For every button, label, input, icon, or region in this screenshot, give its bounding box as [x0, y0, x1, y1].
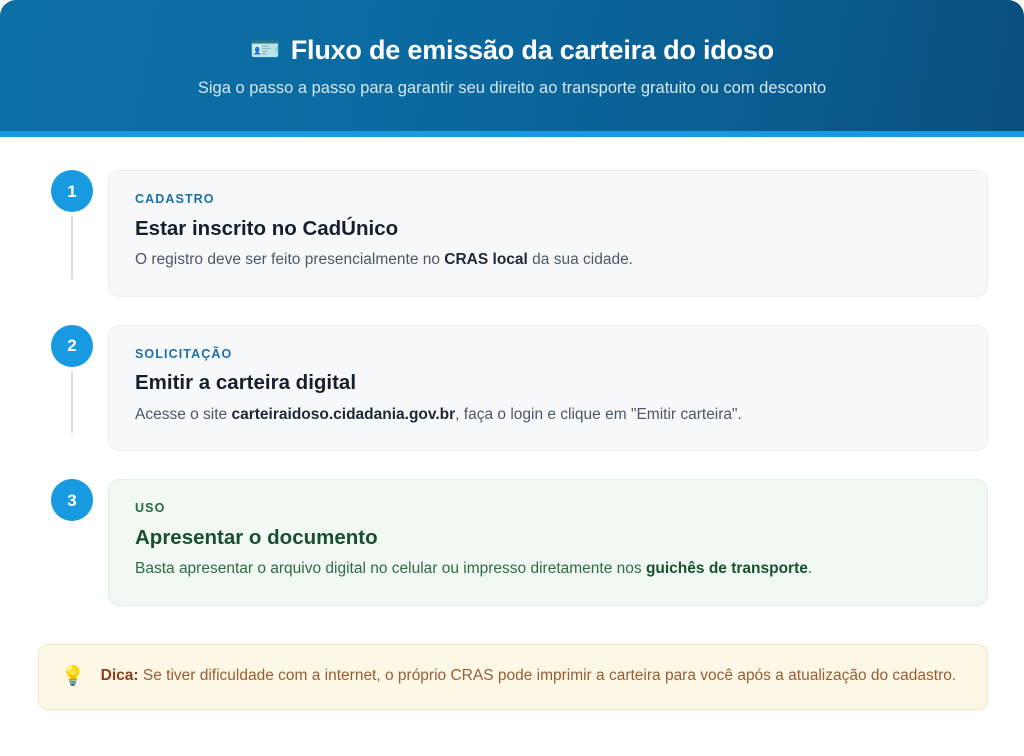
step-description-highlight: carteiraidoso.cidadania.gov.br [232, 406, 456, 423]
step-rail: 1 [36, 170, 108, 297]
step-description-suffix: . [808, 560, 812, 577]
step-card: CADASTRO Estar inscrito no CadÚnico O re… [108, 170, 988, 297]
step-card: USO Apresentar o documento Basta apresen… [108, 479, 988, 606]
step-title: Emitir a carteira digital [135, 370, 961, 396]
page-header: 🪪 Fluxo de emissão da carteira do idoso … [0, 0, 1024, 137]
tip-callout: 💡 Dica: Se tiver dificuldade com a inter… [38, 644, 988, 711]
step-description-highlight: guichês de transporte [646, 560, 808, 577]
step-description-prefix: O registro deve ser feito presencialment… [135, 251, 444, 268]
step-spacer [36, 451, 988, 479]
step-description-suffix: , faça o login e clique em "Emitir carte… [455, 406, 742, 423]
steps-list: 1 CADASTRO Estar inscrito no CadÚnico O … [36, 170, 988, 606]
step-description-highlight: CRAS local [444, 251, 528, 268]
page-body: 1 CADASTRO Estar inscrito no CadÚnico O … [0, 137, 1024, 710]
step-description: Acesse o site carteiraidoso.cidadania.go… [135, 404, 961, 426]
step-rail: 2 [36, 325, 108, 452]
step-item: 3 USO Apresentar o documento Basta apres… [36, 479, 988, 606]
step-description-prefix: Acesse o site [135, 406, 232, 423]
step-marker: 3 [51, 479, 93, 606]
page-subtitle: Siga o passo a passo para garantir seu d… [0, 78, 1024, 99]
tip-text: Dica: Se tiver dificuldade com a interne… [101, 664, 957, 687]
infographic-page: 🪪 Fluxo de emissão da carteira do idoso … [0, 0, 1024, 756]
step-description-suffix: da sua cidade. [528, 251, 633, 268]
step-item: 1 CADASTRO Estar inscrito no CadÚnico O … [36, 170, 988, 297]
identification-card-icon: 🪪 [250, 38, 280, 62]
step-number-badge: 3 [51, 479, 93, 521]
step-kicker: USO [135, 502, 961, 515]
step-card: SOLICITAÇÃO Emitir a carteira digital Ac… [108, 325, 988, 452]
step-title: Apresentar o documento [135, 525, 961, 551]
step-kicker: SOLICITAÇÃO [135, 348, 961, 361]
header-accent-bar [0, 131, 1024, 137]
step-description: O registro deve ser feito presencialment… [135, 249, 961, 271]
page-title: 🪪 Fluxo de emissão da carteira do idoso [0, 34, 1024, 66]
step-description: Basta apresentar o arquivo digital no ce… [135, 558, 961, 580]
tip-label: Dica: [101, 667, 139, 684]
step-spacer [36, 297, 988, 325]
tip-body: Se tiver dificuldade com a internet, o p… [139, 667, 957, 684]
step-description-prefix: Basta apresentar o arquivo digital no ce… [135, 560, 646, 577]
lightbulb-icon: 💡 [59, 664, 85, 690]
step-title: Estar inscrito no CadÚnico [135, 216, 961, 242]
step-marker: 1 [51, 170, 93, 297]
step-kicker: CADASTRO [135, 193, 961, 206]
step-number-badge: 2 [51, 325, 93, 367]
step-number-badge: 1 [51, 170, 93, 212]
step-marker: 2 [51, 325, 93, 452]
page-title-text: Fluxo de emissão da carteira do idoso [291, 34, 774, 66]
step-rail: 3 [36, 479, 108, 606]
step-item: 2 SOLICITAÇÃO Emitir a carteira digital … [36, 325, 988, 452]
